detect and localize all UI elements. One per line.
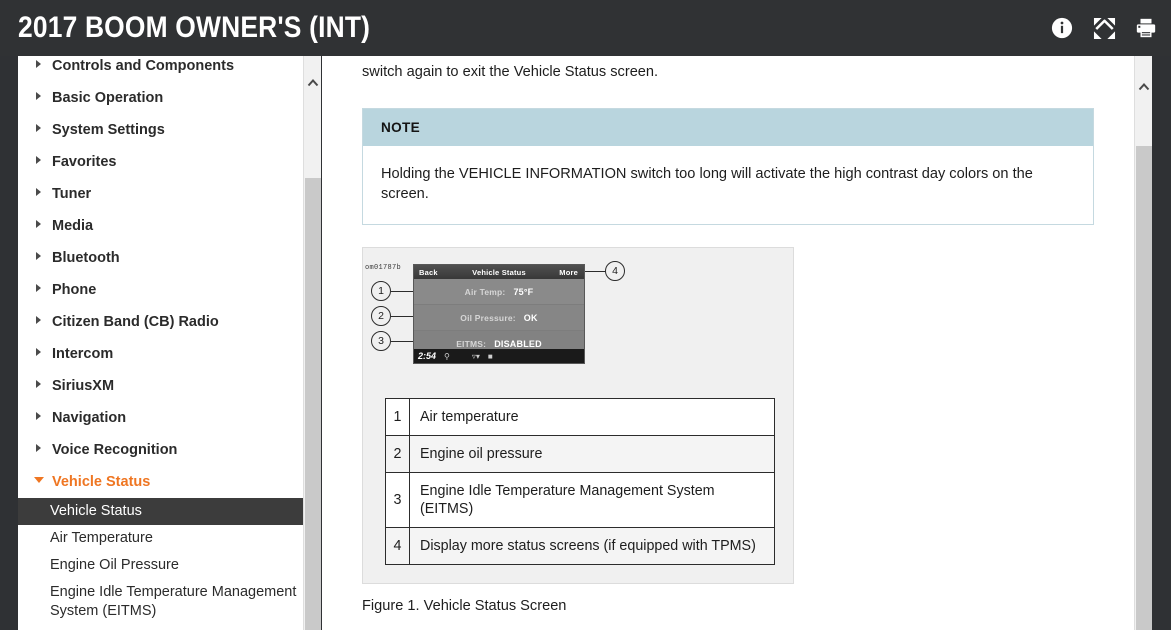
sidebar-item-bluetooth[interactable]: Bluetooth <box>18 242 321 274</box>
screen-row-value: 75°F <box>513 287 533 297</box>
chevron-right-icon <box>36 252 41 260</box>
content-panel: See Unresolved graphic link. Press the V… <box>322 56 1152 630</box>
screen-row-value: OK <box>524 313 538 323</box>
screen-row-air-temp: Air Temp: 75°F <box>414 279 584 305</box>
sidebar-subitem-engine-oil-pressure[interactable]: Engine Oil Pressure <box>18 552 321 579</box>
legend-number: 2 <box>386 436 410 473</box>
sidebar-item-favorites[interactable]: Favorites <box>18 146 321 178</box>
expand-icon[interactable] <box>1093 17 1115 39</box>
intro-paragraph: See Unresolved graphic link. Press the V… <box>362 56 1112 86</box>
figure-container: om01787b 1 2 3 4 Back Vehicl <box>362 247 794 584</box>
screen-row-label: Air Temp: <box>465 287 506 297</box>
callout-marker-1: 1 <box>371 281 391 301</box>
sidebar-item-label: Media <box>52 216 93 236</box>
screen-row-label: Oil Pressure: <box>460 313 516 323</box>
leader-line-1 <box>391 291 415 292</box>
legend-number: 4 <box>386 528 410 565</box>
callout-marker-3: 3 <box>371 331 391 351</box>
chevron-right-icon <box>36 60 41 68</box>
screen-row-oil-pressure: Oil Pressure: OK <box>414 305 584 331</box>
chevron-right-icon <box>36 444 41 452</box>
intro-suffix: . Press the VEHICLE INFORMATION switch t… <box>362 56 1093 80</box>
sidebar-subitem-eitms[interactable]: Engine Idle Temperature Management Syste… <box>18 579 321 625</box>
figure-legend-table: 1 Air temperature 2 Engine oil pressure … <box>385 398 775 565</box>
sidebar-subitem-vehicle-status[interactable]: Vehicle Status <box>18 498 321 525</box>
sidebar-item-label: Citizen Band (CB) Radio <box>52 312 219 332</box>
leader-line-2 <box>391 316 415 317</box>
chevron-right-icon <box>36 316 41 324</box>
sidebar-item-label: Phone <box>52 280 96 300</box>
chevron-right-icon <box>36 188 41 196</box>
page-title: 2017 BOOM OWNER'S (INT) <box>18 11 370 45</box>
content-scrollbar[interactable] <box>1134 56 1152 630</box>
sidebar-scrollbar[interactable] <box>303 56 321 630</box>
chevron-right-icon <box>36 92 41 100</box>
sidebar-item-navigation[interactable]: Navigation <box>18 402 321 434</box>
sidebar-item-siriusxm[interactable]: SiriusXM <box>18 370 321 402</box>
screen-row-value: DISABLED <box>494 339 542 349</box>
sidebar-item-label: Navigation <box>52 408 126 428</box>
chevron-down-icon <box>34 477 44 483</box>
sidebar-scrollbar-thumb[interactable] <box>305 178 321 630</box>
header-actions <box>1051 0 1157 56</box>
screen-status-bar: 2:54 ⚲ ▿▾ ■ <box>414 349 584 363</box>
legend-text: Air temperature <box>410 399 775 436</box>
chevron-right-icon <box>36 348 41 356</box>
sidebar-item-label: Vehicle Status <box>52 472 150 492</box>
scroll-up-chevron-icon[interactable] <box>1138 82 1150 92</box>
sidebar-item-label: Favorites <box>52 152 116 172</box>
callout-marker-2: 2 <box>371 306 391 326</box>
document-body: See Unresolved graphic link. Press the V… <box>322 56 1134 614</box>
figure-caption: Figure 1. Vehicle Status Screen <box>362 598 1112 614</box>
note-heading: NOTE <box>363 109 1093 146</box>
note-body-text: Holding the VEHICLE INFORMATION switch t… <box>363 146 1093 224</box>
chevron-right-icon <box>36 380 41 388</box>
chevron-right-icon <box>36 124 41 132</box>
screen-clock: 2:54 <box>418 351 436 361</box>
sidebar-item-label: Basic Operation <box>52 88 163 108</box>
sidebar-item-media[interactable]: Media <box>18 210 321 242</box>
sidebar-item-controls-and-components[interactable]: Controls and Components <box>18 56 321 82</box>
chevron-right-icon <box>36 412 41 420</box>
screen-top-bar: Back Vehicle Status More <box>414 265 584 279</box>
sidebar-item-label: Tuner <box>52 184 91 204</box>
legend-text: Engine Idle Temperature Management Syste… <box>410 473 775 528</box>
application-window: 2017 BOOM OWNER'S (INT) <box>0 0 1171 630</box>
table-row: 3 Engine Idle Temperature Management Sys… <box>386 473 775 528</box>
legend-text: Engine oil pressure <box>410 436 775 473</box>
sidebar-item-label: Voice Recognition <box>52 440 177 460</box>
sidebar-item-label: System Settings <box>52 120 165 140</box>
table-row: 2 Engine oil pressure <box>386 436 775 473</box>
sidebar-item-intercom[interactable]: Intercom <box>18 338 321 370</box>
sidebar-subitem-air-temperature[interactable]: Air Temperature <box>18 525 321 552</box>
legend-number: 1 <box>386 399 410 436</box>
sidebar-item-label: SiriusXM <box>52 376 114 396</box>
sidebar-item-system-settings[interactable]: System Settings <box>18 114 321 146</box>
chevron-right-icon <box>36 284 41 292</box>
sd-card-icon: ■ <box>488 352 493 361</box>
content-scrollbar-thumb[interactable] <box>1136 146 1152 630</box>
app-header: 2017 BOOM OWNER'S (INT) <box>0 0 1171 56</box>
sidebar-item-citizen-band-radio[interactable]: Citizen Band (CB) Radio <box>18 306 321 338</box>
table-row: 4 Display more status screens (if equipp… <box>386 528 775 565</box>
callout-marker-4: 4 <box>605 261 625 281</box>
sidebar-item-basic-operation[interactable]: Basic Operation <box>18 82 321 114</box>
sidebar-item-phone[interactable]: Phone <box>18 274 321 306</box>
sidebar-item-voice-recognition[interactable]: Voice Recognition <box>18 434 321 466</box>
screen-row-label: EITMS: <box>456 339 486 349</box>
legend-number: 3 <box>386 473 410 528</box>
headlight-icon: ▿▾ <box>472 352 480 361</box>
info-icon[interactable] <box>1051 17 1073 39</box>
sidebar-nav-list: Controls and Components Basic Operation … <box>18 56 321 630</box>
sidebar-item-label: Intercom <box>52 344 113 364</box>
screen-title: Vehicle Status <box>414 268 584 277</box>
legend-text: Display more status screens (if equipped… <box>410 528 775 565</box>
chevron-right-icon <box>36 156 41 164</box>
print-icon[interactable] <box>1135 17 1157 39</box>
sidebar-item-vehicle-status[interactable]: Vehicle Status <box>18 466 321 498</box>
scroll-up-chevron-icon[interactable] <box>307 78 319 88</box>
vehicle-status-screen-illustration: om01787b 1 2 3 4 Back Vehicl <box>363 260 795 380</box>
table-row: 1 Air temperature <box>386 399 775 436</box>
radio-display-screen: Back Vehicle Status More Air Temp: 75°F … <box>413 264 585 364</box>
illustration-id-label: om01787b <box>365 264 401 272</box>
sidebar-item-label: Controls and Components <box>52 56 234 76</box>
note-callout-box: NOTE Holding the VEHICLE INFORMATION swi… <box>362 108 1094 225</box>
sidebar-item-label: Bluetooth <box>52 248 120 268</box>
sidebar-item-tuner[interactable]: Tuner <box>18 178 321 210</box>
leader-line-3 <box>391 341 415 342</box>
key-icon: ⚲ <box>444 352 450 361</box>
chevron-right-icon <box>36 220 41 228</box>
sidebar-subitem-tpms[interactable]: Tire Pressure Monitoring System (TPMS) <box>18 625 321 630</box>
sidebar[interactable]: Controls and Components Basic Operation … <box>18 56 321 630</box>
